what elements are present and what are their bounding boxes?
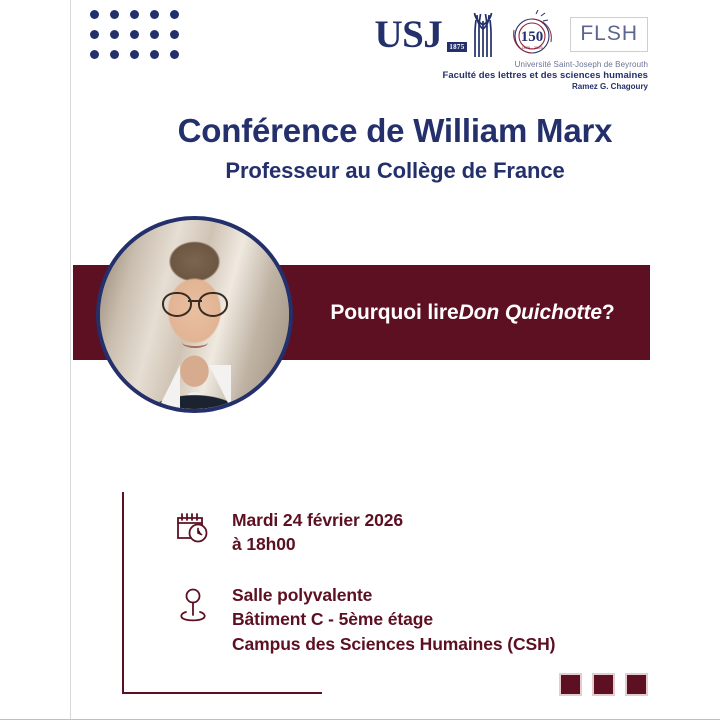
topic-text-after: ?: [602, 301, 615, 325]
caption-university: Université Saint-Joseph de Beyrouth: [443, 60, 649, 70]
detail-lines-location: Salle polyvalente Bâtiment C - 5ème étag…: [232, 583, 555, 655]
portrait-collar-right: [209, 365, 231, 409]
speaker-portrait: [96, 216, 293, 413]
detail-row-datetime: Mardi 24 février 2026 à 18h00: [175, 508, 555, 556]
usj-wordmark: USJ: [374, 15, 442, 54]
topic-text-italic: Don Quichotte: [459, 301, 602, 325]
detail-time: à 18h00: [232, 532, 403, 556]
institution-caption: Université Saint-Joseph de Beyrouth Facu…: [443, 60, 649, 93]
institution-logo-bar: USJ 1875: [374, 10, 648, 93]
svg-text:150: 150: [521, 29, 544, 45]
caption-faculty: Faculté des lettres et des sciences huma…: [443, 70, 649, 82]
corner-bracket-vertical: [122, 492, 124, 694]
page-subtitle: Professeur au Collège de France: [70, 158, 720, 184]
flsh-label: FLSH: [580, 22, 638, 45]
portrait-collar-left: [158, 365, 180, 409]
detail-campus: Campus des Sciences Humaines (CSH): [232, 632, 555, 656]
caption-donor: Ramez G. Chagoury: [443, 82, 649, 92]
conference-poster: USJ 1875: [0, 0, 720, 720]
cedar-tree-icon: 1875: [446, 11, 502, 57]
detail-row-location: Salle polyvalente Bâtiment C - 5ème étag…: [175, 583, 555, 655]
detail-room: Salle polyvalente: [232, 583, 555, 607]
usj-founded-year: 1875: [447, 42, 466, 52]
page-title: Conférence de William Marx: [70, 112, 720, 150]
detail-lines-datetime: Mardi 24 février 2026 à 18h00: [232, 508, 403, 556]
portrait-smile: [182, 337, 208, 348]
150-anniversary-seal-icon: 150 1875 - 2025: [506, 10, 562, 58]
square-decoration: [559, 673, 648, 696]
portrait-photo: [100, 220, 289, 409]
dot-grid-decoration: [90, 10, 190, 70]
title-block: Conférence de William Marx Professeur au…: [70, 112, 720, 184]
topic-text-before: Pourquoi lire: [330, 301, 458, 325]
detail-date: Mardi 24 février 2026: [232, 508, 403, 532]
corner-bracket-horizontal: [122, 692, 322, 694]
flsh-logo: FLSH: [570, 17, 648, 52]
svg-text:1875 - 2025: 1875 - 2025: [522, 45, 544, 50]
detail-building: Bâtiment C - 5ème étage: [232, 607, 555, 631]
calendar-clock-icon: [175, 508, 211, 544]
page-edge-line: [70, 0, 71, 720]
location-pin-icon: [175, 583, 211, 625]
glasses-icon: [159, 292, 231, 314]
event-details: Mardi 24 février 2026 à 18h00 Salle poly…: [175, 508, 555, 656]
topic-banner-text: Pourquoi lire Don Quichotte ?: [295, 265, 650, 360]
